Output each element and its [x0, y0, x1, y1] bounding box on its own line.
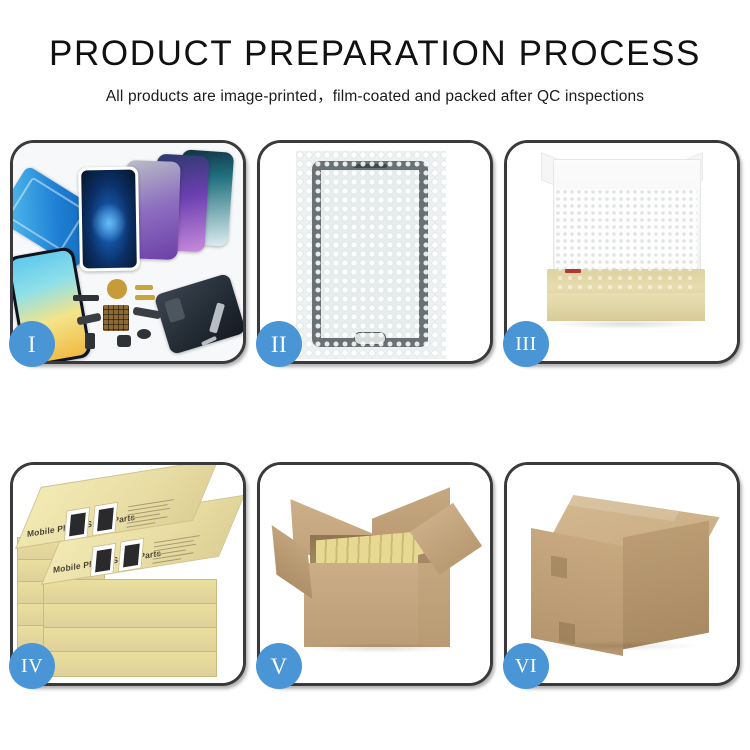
part-gold-flex-b — [135, 295, 155, 300]
box-edge-r2 — [43, 603, 217, 629]
page-title: PRODUCT PREPARATION PROCESS — [0, 36, 750, 71]
step-panel-4[interactable]: Mobile Phone Spare Parts Mobile Phone Sp… — [10, 462, 246, 686]
box-edge-r4 — [43, 651, 217, 677]
carton-shadow — [310, 643, 450, 653]
step-badge-4: IV — [9, 643, 55, 689]
sealed-carton-tab-upper — [551, 555, 567, 578]
step-numeral-4: IV — [21, 656, 43, 676]
step-panel-3[interactable]: III — [504, 140, 740, 364]
box-shadow — [551, 319, 701, 329]
phone-screen-blue-wallpaper — [78, 166, 140, 271]
part-battery-connector — [85, 333, 95, 349]
step-panel-2[interactable]: II — [257, 140, 493, 364]
step-badge-6: VI — [503, 643, 549, 689]
step-numeral-6: VI — [515, 656, 537, 676]
wrapped-phone-screen — [312, 161, 428, 347]
step-panel-6[interactable]: VI — [504, 462, 740, 686]
process-steps-grid: I II III — [10, 140, 740, 686]
page-subtitle: All products are image-printed，film-coat… — [0, 71, 750, 106]
step-badge-2: II — [256, 321, 302, 367]
kraft-box-front — [547, 293, 705, 321]
sealed-carton-shadow — [537, 641, 699, 651]
box-label-phone-image-d — [118, 538, 144, 573]
sealed-carton-right-face — [623, 521, 709, 650]
box-edge-r3 — [43, 627, 217, 653]
step-badge-3: III — [503, 321, 549, 367]
box-label-phone-image-c — [90, 543, 116, 578]
foam-padding — [555, 189, 697, 273]
step-badge-5: V — [256, 643, 302, 689]
step-panel-5[interactable]: V — [257, 462, 493, 686]
box-edge-r1 — [43, 579, 217, 605]
step-numeral-1: I — [28, 333, 36, 356]
step-numeral-3: III — [515, 334, 536, 354]
step-panel-1[interactable]: I — [10, 140, 246, 364]
part-vibration-motor — [137, 329, 151, 339]
page-header: PRODUCT PREPARATION PROCESS All products… — [0, 0, 750, 106]
screen-red-marker — [565, 269, 581, 273]
part-camera-module — [117, 335, 131, 347]
box-label-phone-image-a — [64, 507, 90, 542]
sealed-carton-left-face — [531, 528, 623, 656]
part-ic-chip — [103, 305, 129, 331]
box-label-phone-image-b — [92, 502, 118, 537]
part-connector-strip — [73, 295, 99, 301]
step-numeral-2: II — [271, 333, 287, 356]
step-numeral-5: V — [270, 655, 287, 678]
part-speaker-coil — [107, 279, 127, 299]
carton-front-panel — [304, 563, 418, 647]
step-badge-1: I — [9, 321, 55, 367]
part-gold-flex-a — [135, 285, 153, 290]
